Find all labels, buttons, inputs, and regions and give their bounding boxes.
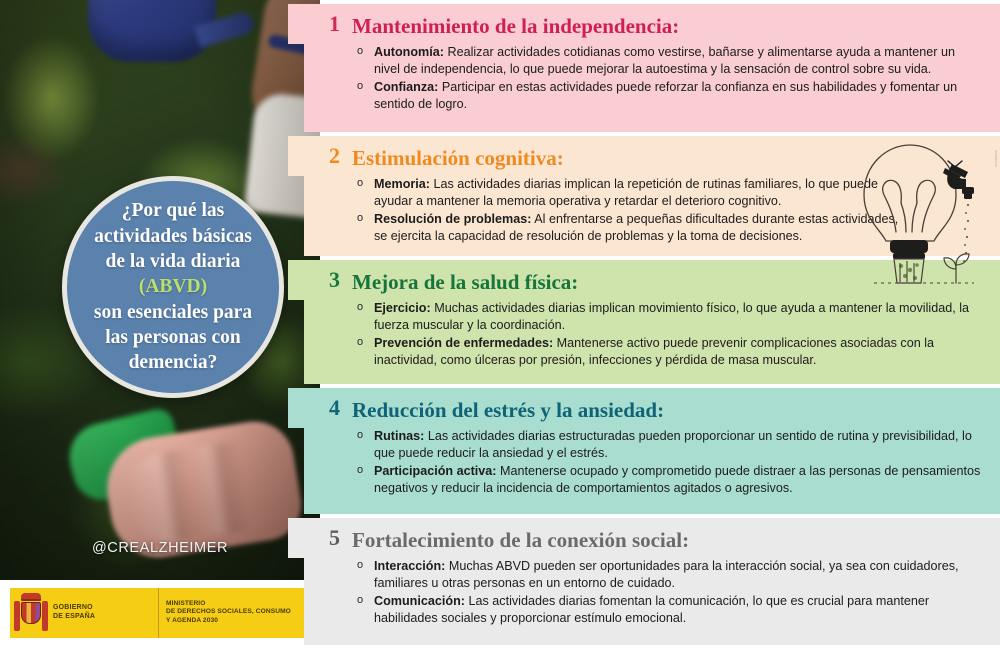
illustration-credit: ilustracion bbox=[994, 150, 997, 167]
section-heading-2: Estimulación cognitiva: bbox=[352, 145, 984, 169]
logo-gobierno-text: GOBIERNO DE ESPAÑA bbox=[53, 604, 95, 622]
bullet-text: Muchas actividades diarias implican movi… bbox=[374, 301, 969, 332]
section-estimulacion-cognitiva: 2 Estimulación cognitiva: Memoria: Las a… bbox=[304, 136, 1000, 256]
section-bullets-4: Rutinas: Las actividades diarias estruct… bbox=[354, 428, 984, 496]
bullet-text: Realizar actividades cotidianas como ves… bbox=[374, 45, 955, 76]
section-heading-4: Reducción del estrés y la ansiedad: bbox=[352, 397, 984, 421]
section-number-3: 3 bbox=[329, 267, 340, 293]
list-item: Rutinas: Las actividades diarias estruct… bbox=[354, 428, 984, 461]
section-mantenimiento-independencia: 1 Mantenimiento de la independencia: Aut… bbox=[304, 4, 1000, 132]
logo-bar: GOBIERNO DE ESPAÑA MINISTERIO DE DERECHO… bbox=[0, 580, 320, 645]
section-mejora-salud-fisica: 3 Mejora de la salud física: Ejercicio: … bbox=[304, 260, 1000, 384]
section-number-badge-4: 4 bbox=[288, 388, 352, 428]
list-item: Participación activa: Mantenerse ocupado… bbox=[354, 463, 984, 496]
bullet-term: Interacción: bbox=[374, 559, 445, 573]
section-reduccion-estres-ansiedad: 4 Reducción del estrés y la ansiedad: Ru… bbox=[304, 388, 1000, 514]
section-number-badge-5: 5 bbox=[288, 518, 352, 558]
bullet-term: Prevención de enfermedades: bbox=[374, 336, 553, 350]
ministerio-line-2: DE DERECHOS SOCIALES, CONSUMO bbox=[166, 608, 291, 617]
section-number-badge-2: 2 bbox=[288, 136, 352, 176]
logo-ministerio-text: MINISTERIO DE DERECHOS SOCIALES, CONSUMO… bbox=[166, 600, 291, 626]
bullet-text: Muchas ABVD pueden ser oportunidades par… bbox=[374, 559, 959, 590]
section-fortalecimiento-conexion-social: 5 Fortalecimiento de la conexión social:… bbox=[304, 518, 1000, 645]
bullet-term: Rutinas: bbox=[374, 429, 424, 443]
logo-ministerio: MINISTERIO DE DERECHOS SOCIALES, CONSUMO… bbox=[158, 588, 308, 638]
question-line-2: actividades básicas bbox=[94, 226, 252, 247]
logo-gobierno-de-espana: GOBIERNO DE ESPAÑA bbox=[10, 588, 158, 638]
bullet-term: Comunicación: bbox=[374, 594, 465, 608]
question-circle: ¿Por qué las actividades básicas de la v… bbox=[62, 176, 284, 398]
section-bullets-5: Interacción: Muchas ABVD pueden ser opor… bbox=[354, 558, 984, 626]
ministerio-line-1: MINISTERIO bbox=[166, 600, 291, 609]
ministerio-line-3: Y AGENDA 2030 bbox=[166, 617, 291, 626]
list-item: Autonomía: Realizar actividades cotidian… bbox=[354, 44, 984, 77]
bullet-term: Memoria: bbox=[374, 177, 430, 191]
section-bullets-3: Ejercicio: Muchas actividades diarias im… bbox=[354, 300, 984, 368]
section-number-5: 5 bbox=[329, 525, 340, 551]
gobierno-line-2: DE ESPAÑA bbox=[53, 613, 95, 622]
social-handle: @CREALZHEIMER bbox=[0, 540, 320, 556]
bullet-term: Ejercicio: bbox=[374, 301, 431, 315]
list-item: Resolución de problemas: Al enfrentarse … bbox=[354, 211, 914, 244]
bullet-term: Resolución de problemas: bbox=[374, 212, 531, 226]
list-item: Memoria: Las actividades diarias implica… bbox=[354, 176, 914, 209]
section-heading-1: Mantenimiento de la independencia: bbox=[352, 13, 984, 37]
gobierno-line-1: GOBIERNO bbox=[53, 604, 95, 613]
bullet-term: Participación activa: bbox=[374, 464, 497, 478]
abvd-acronym: (ABVD) bbox=[94, 274, 252, 299]
question-line-4: son esenciales para bbox=[94, 302, 252, 323]
question-text: ¿Por qué las actividades básicas de la v… bbox=[84, 198, 262, 375]
question-line-6: demencia? bbox=[129, 352, 218, 373]
infographic-page: ¿Por qué las actividades básicas de la v… bbox=[0, 0, 1000, 645]
bullet-text: Participar en estas actividades puede re… bbox=[374, 80, 957, 111]
list-item: Confianza: Participar en estas actividad… bbox=[354, 79, 984, 112]
coat-of-arms-icon bbox=[14, 593, 48, 633]
bullet-term: Autonomía: bbox=[374, 45, 444, 59]
list-item: Interacción: Muchas ABVD pueden ser opor… bbox=[354, 558, 984, 591]
section-number-badge-3: 3 bbox=[288, 260, 352, 300]
bullet-text: Las actividades diarias estructuradas pu… bbox=[374, 429, 972, 460]
section-bullets-2: Memoria: Las actividades diarias implica… bbox=[354, 176, 914, 244]
section-number-1: 1 bbox=[329, 11, 340, 37]
section-bullets-1: Autonomía: Realizar actividades cotidian… bbox=[354, 44, 984, 112]
question-line-1: ¿Por qué las bbox=[122, 200, 225, 221]
list-item: Prevención de enfermedades: Mantenerse a… bbox=[354, 335, 984, 368]
section-number-badge-1: 1 bbox=[288, 4, 352, 44]
list-item: Ejercicio: Muchas actividades diarias im… bbox=[354, 300, 984, 333]
list-item: Comunicación: Las actividades diarias fo… bbox=[354, 593, 984, 626]
question-circle-body: ¿Por qué las actividades básicas de la v… bbox=[62, 176, 284, 398]
bullet-term: Confianza: bbox=[374, 80, 438, 94]
sections-column: 1 Mantenimiento de la independencia: Aut… bbox=[304, 0, 1000, 645]
question-line-3: de la vida diaria bbox=[106, 251, 241, 272]
question-line-5: las personas con bbox=[105, 327, 240, 348]
section-number-4: 4 bbox=[329, 395, 340, 421]
section-heading-5: Fortalecimiento de la conexión social: bbox=[352, 527, 984, 551]
section-heading-3: Mejora de la salud física: bbox=[352, 269, 984, 293]
section-number-2: 2 bbox=[329, 143, 340, 169]
bullet-text: Las actividades diarias implican la repe… bbox=[374, 177, 878, 208]
